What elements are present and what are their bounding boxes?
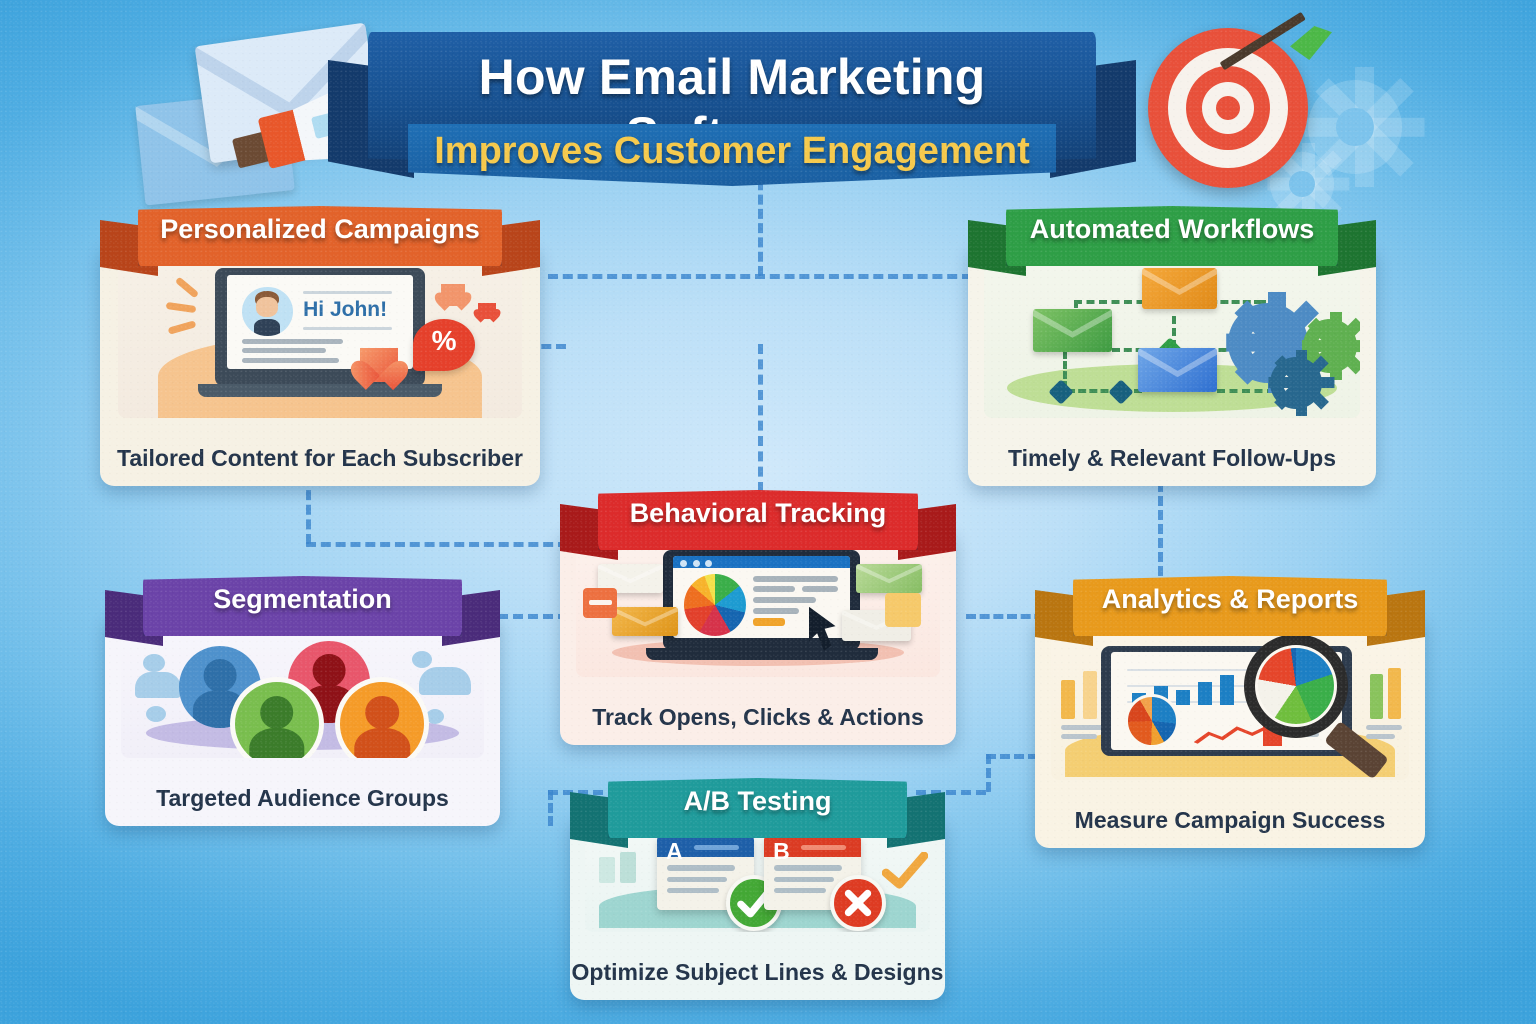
card-ribbon: A/B Testing (570, 778, 945, 854)
connector-center-down (758, 344, 763, 492)
card-caption: Targeted Audience Groups (105, 785, 500, 812)
tag-icon (583, 588, 617, 618)
card-segmentation[interactable]: Targeted Audience Groups Segmentation (105, 576, 500, 826)
person-icon-orange (335, 677, 429, 758)
card-ribbon-label: Analytics & Reports (1073, 584, 1387, 615)
card-caption: Optimize Subject Lines & Designs (570, 959, 945, 986)
side-bar-left (1061, 680, 1075, 720)
card-ribbon: Segmentation (105, 576, 500, 652)
connector-left-to-center (306, 542, 568, 547)
percent-badge: % (413, 319, 475, 371)
person-icon-green (230, 677, 324, 758)
card-ribbon-label: Personalized Campaigns (138, 214, 502, 245)
card-ab-testing[interactable]: A B (570, 778, 945, 1000)
percent-badge-label: % (413, 325, 475, 357)
pie-chart-icon (684, 574, 746, 636)
card-ribbon-label: A/B Testing (608, 786, 907, 817)
heart-icon-small (441, 284, 465, 306)
card-caption: Tailored Content for Each Subscriber (100, 445, 540, 472)
cloud-left (135, 672, 181, 698)
card-ribbon-label: Segmentation (143, 584, 462, 615)
note-icon (885, 593, 921, 627)
heart-icon-tiny (478, 303, 496, 319)
target-arrow-decoration (1148, 24, 1328, 194)
screen-greeting: Hi John! (303, 298, 387, 322)
card-ribbon: Personalized Campaigns (100, 206, 540, 282)
infographic-canvas: How Email Marketing Software Improves Cu… (0, 0, 1536, 1024)
heart-icon-large (360, 348, 398, 382)
cloud-right (419, 667, 471, 695)
card-ribbon-label: Automated Workflows (1006, 214, 1338, 245)
card-ribbon: Analytics & Reports (1035, 576, 1425, 652)
burst-lines (166, 284, 212, 336)
connector-top-horizontal (548, 274, 972, 279)
page-subtitle: Improves Customer Engagement (408, 130, 1056, 173)
cross-icon (830, 875, 886, 931)
card-ribbon-label: Behavioral Tracking (598, 498, 918, 529)
card-personalized-campaigns[interactable]: Hi John! % Tailor (100, 206, 540, 486)
card-ribbon: Automated Workflows (968, 206, 1376, 282)
card-caption: Track Opens, Clicks & Actions (560, 704, 956, 731)
connector-ab-left-v (548, 790, 553, 826)
check-icon-faded (882, 852, 928, 890)
title-banner: How Email Marketing Software Improves Cu… (332, 26, 1132, 186)
gear-icon-blue-small (1270, 357, 1322, 409)
side-bar-right (1370, 674, 1383, 720)
connector-left-seg (498, 614, 568, 619)
card-behavioral-tracking[interactable]: Track Opens, Clicks & Actions Behavioral… (560, 490, 956, 745)
envelope-icon-green (1033, 309, 1112, 352)
envelope-icon-gold (612, 607, 678, 637)
card-automated-workflows[interactable]: Timely & Relevant Follow-Ups Automated W… (968, 206, 1376, 486)
arrow-fletching (1290, 26, 1332, 60)
envelope-icon-blue (1138, 348, 1217, 393)
small-pie-chart-icon (1125, 694, 1179, 748)
envelope-icon-green-right (856, 564, 922, 594)
connector-ab-right-v (986, 754, 991, 792)
card-ribbon: Behavioral Tracking (560, 490, 956, 566)
avatar (242, 287, 293, 337)
connector-ab-right-h2 (986, 754, 1038, 759)
card-caption: Timely & Relevant Follow-Ups (968, 445, 1376, 472)
card-analytics-reports[interactable]: Measure Campaign Success Analytics & Rep… (1035, 576, 1425, 848)
card-illustration-workflows (984, 258, 1359, 418)
bg-bar-left (599, 857, 615, 884)
card-caption: Measure Campaign Success (1035, 807, 1425, 834)
card-illustration-personalized: Hi John! % (118, 258, 523, 418)
